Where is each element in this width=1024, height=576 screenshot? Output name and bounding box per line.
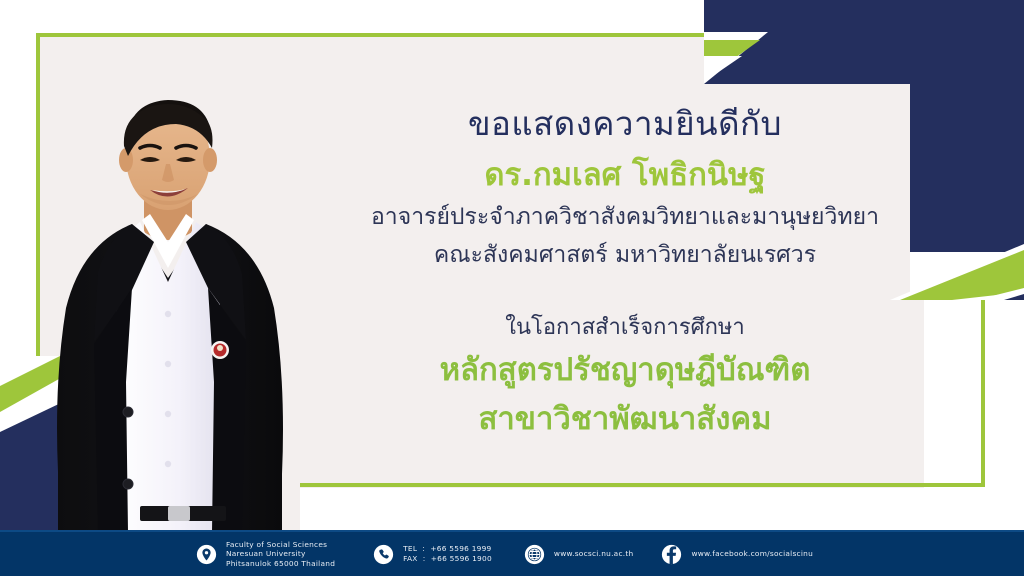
facebook-icon bbox=[661, 544, 682, 565]
congratulations-banner: ขอแสดงความยินดีกับ ดร.กมเลศ โพธิกนิษฐ อา… bbox=[0, 0, 1024, 576]
address-line-2: Naresuan University bbox=[226, 549, 335, 559]
footer-facebook[interactable]: www.facebook.com/socialscinu bbox=[661, 544, 813, 565]
address-line-1: Faculty of Social Sciences bbox=[226, 540, 335, 550]
belt-buckle bbox=[168, 506, 190, 521]
globe-icon bbox=[524, 544, 545, 565]
congratulation-text-block: ขอแสดงความยินดีกับ ดร.กมเลศ โพธิกนิษฐ อา… bbox=[330, 100, 920, 444]
facebook-url[interactable]: www.facebook.com/socialscinu bbox=[691, 549, 813, 559]
footer-website[interactable]: www.socsci.nu.ac.th bbox=[524, 544, 634, 565]
occasion-text: ในโอกาสสำเร็จการศึกษา bbox=[330, 310, 920, 346]
honoree-faculty: คณะสังคมศาสตร์ มหาวิทยาลัยนเรศวร bbox=[330, 236, 920, 274]
footer-phone: TEL : +66 5596 1999 FAX : +66 5596 1900 bbox=[373, 544, 492, 565]
footer-address: Faculty of Social Sciences Naresuan Univ… bbox=[196, 540, 335, 569]
congratulations-heading: ขอแสดงความยินดีกับ bbox=[330, 100, 920, 148]
address-line-3: Phitsanulok 65000 Thailand bbox=[226, 559, 335, 569]
location-pin-icon bbox=[196, 544, 217, 565]
honoree-role: อาจารย์ประจำภาควิชาสังคมวิทยาและมานุษยวิ… bbox=[330, 198, 920, 236]
website-url[interactable]: www.socsci.nu.ac.th bbox=[554, 549, 634, 559]
belt bbox=[140, 506, 226, 521]
phone-icon bbox=[373, 544, 394, 565]
honoree-name: ดร.กมเลศ โพธิกนิษฐ bbox=[330, 152, 920, 198]
footer-contact-bar: Faculty of Social Sciences Naresuan Univ… bbox=[0, 530, 1024, 576]
phone-tel: TEL : +66 5596 1999 bbox=[403, 544, 492, 554]
degree-name: หลักสูตรปรัชญาดุษฎีบัณฑิต bbox=[330, 346, 920, 395]
phone-fax: FAX : +66 5596 1900 bbox=[403, 554, 492, 564]
major-name: สาขาวิชาพัฒนาสังคม bbox=[330, 395, 920, 444]
